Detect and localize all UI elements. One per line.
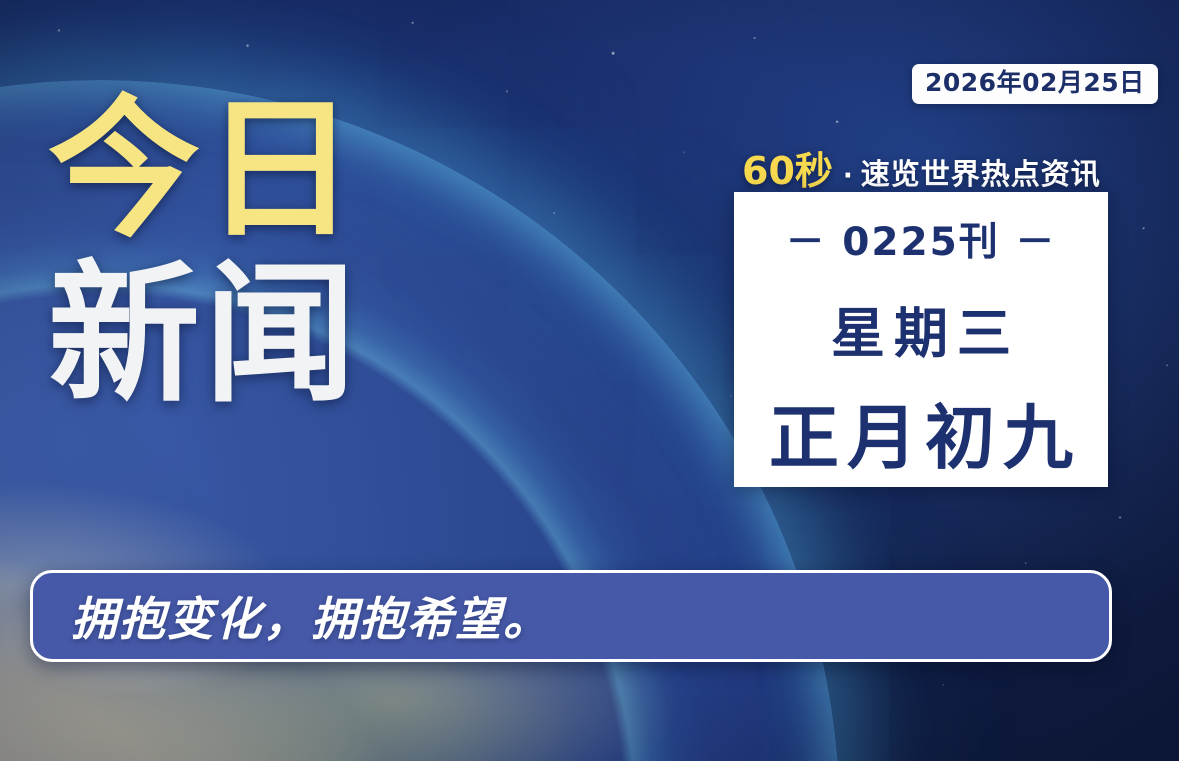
tagline-description: 速览世界热点资讯 [861, 151, 1101, 193]
date-badge: 2026年02月25日 [912, 64, 1158, 104]
news-poster: 今日 新闻 2026年02月25日 60秒 · 速览世界热点资讯 － 0225刊… [0, 0, 1179, 761]
headline-line-today: 今日 [48, 96, 360, 245]
tagline-separator-icon: · [833, 161, 861, 191]
lunar-date-label: 正月初九 [761, 382, 1081, 483]
issue-number: － 0225刊 － [786, 211, 1057, 267]
tagline: 60秒 · 速览世界热点资讯 [742, 140, 1101, 195]
info-card: － 0225刊 － 星期三 正月初九 [734, 192, 1108, 487]
slogan-bar: 拥抱变化，拥抱希望。 [30, 570, 1112, 662]
slogan-text: 拥抱变化，拥抱希望。 [33, 583, 551, 649]
tagline-duration: 60秒 [742, 140, 833, 195]
weekday-label: 星期三 [822, 289, 1020, 368]
headline-block: 今日 新闻 [48, 96, 360, 410]
headline-line-news: 新闻 [48, 261, 360, 410]
